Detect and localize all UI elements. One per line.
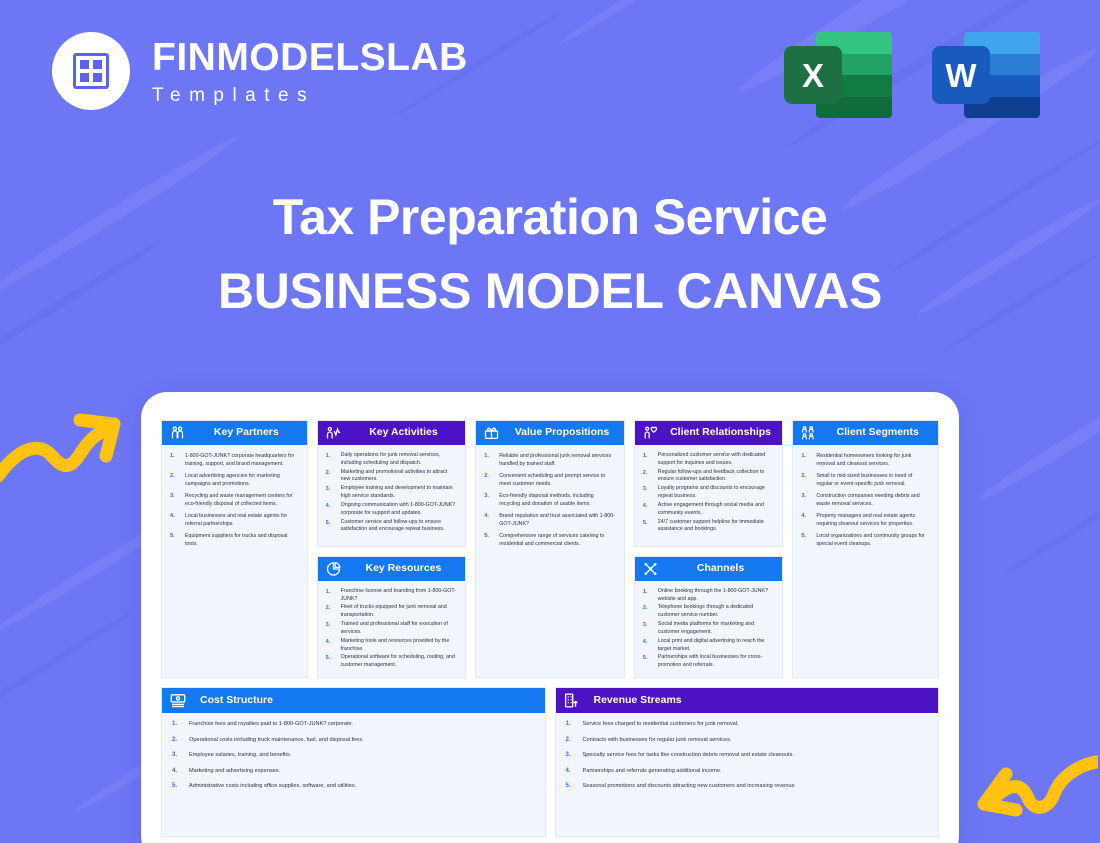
money-bill-icon [169,692,187,709]
gift-icon [483,425,500,441]
panel-content: 1-800-GOT-JUNK? corporate headquarters f… [162,445,307,677]
list-item: Daily operations for junk removal servic… [324,452,458,468]
people-group-icon [800,425,817,441]
list-item: Trained and professional staff for execu… [324,621,458,637]
brand-logo: FINMODELSLAB Templates [52,32,468,110]
list-item: Regular follow-ups and feedback collecti… [641,469,775,485]
office-format-icons: X W [784,32,1040,118]
list-item: Fleet of trucks equipped for junk remova… [324,604,458,620]
list-item: Contracts with businesses for regular ju… [562,736,931,745]
list-item: Property managers and real estate agents… [799,512,930,528]
list-item: Active engagement through social media a… [641,502,775,518]
panel-content: Daily operations for junk removal servic… [318,445,466,546]
panel-title: Channels [666,563,776,575]
panel-title: Cost Structure [194,695,538,707]
list-item: Comprehensive range of services catering… [482,532,616,548]
headline-canvas-label: BUSINESS MODEL CANVAS [0,261,1100,321]
person-heart-icon [642,425,659,441]
grid-squares-icon [73,53,109,89]
panel-key-activities[interactable]: Key Activities Daily operations for junk… [317,420,467,547]
panel-content: Service fees charged to residential cust… [556,713,939,836]
list-item: Brand reputation and trust associated wi… [482,512,616,528]
list-item: Operational costs including truck mainte… [168,736,537,745]
business-model-canvas-board: Key Partners 1-800-GOT-JUNK? corporate h… [141,392,959,843]
word-icon: W [932,32,1040,118]
network-nodes-icon [642,561,659,577]
excel-badge-letter: X [784,46,842,104]
panel-key-partners[interactable]: Key Partners 1-800-GOT-JUNK? corporate h… [161,420,308,678]
list-item: Franchise license and branding from 1-80… [324,588,458,604]
list-item: 24/7 customer support helpline for immed… [641,519,775,535]
canvas-bottom-row: Cost Structure Franchise fees and royalt… [161,687,939,837]
panel-content: Online booking through the 1-800-GOT-JUN… [635,581,783,677]
list-item: Equipment suppliers for trucks and dispo… [168,532,299,548]
panel-revenue-streams[interactable]: Revenue Streams Service fees charged to … [555,687,940,837]
excel-icon: X [784,32,892,118]
list-item: Reliable and professional junk removal s… [482,452,616,468]
word-badge-letter: W [932,46,990,104]
list-item: Local businesses and real estate agents … [168,512,299,528]
panel-client-segments[interactable]: Client Segments Residential homeowners l… [792,420,939,678]
list-item: Partnerships with local businesses for c… [641,654,775,670]
list-item: Marketing tools and resources provided b… [324,638,458,654]
list-item: Small to mid-sized businesses in need of… [799,472,930,488]
logo-circle [52,32,130,110]
squiggly-arrow-up-right-icon [0,398,126,493]
panel-content: Franchise license and branding from 1-80… [318,581,466,677]
panel-title: Revenue Streams [588,695,932,707]
person-activity-icon [325,425,342,441]
list-item: Administrative costs including office su… [168,782,537,791]
list-item: Partnerships and referrals generating ad… [562,767,931,776]
list-item: Recycling and waste management centers f… [168,492,299,508]
list-item: Personalized customer service with dedic… [641,452,775,468]
panel-title: Value Propositions [507,427,617,439]
list-item: Employee training and development to mai… [324,485,458,501]
logo-title: FINMODELSLAB [152,38,468,77]
list-item: Employee salaries, training, and benefit… [168,751,537,760]
list-item: Loyalty programs and discounts to encour… [641,485,775,501]
list-item: Convenient scheduling and prompt service… [482,472,616,488]
list-item: 1-800-GOT-JUNK? corporate headquarters f… [168,452,299,468]
list-item: Construction companies needing debris an… [799,492,930,508]
panel-title: Key Resources [349,563,459,575]
list-item: Telephone bookings through a dedicated c… [641,604,775,620]
panel-cost-structure[interactable]: Cost Structure Franchise fees and royalt… [161,687,546,837]
list-item: Specialty service fees for tasks like co… [562,751,931,760]
panel-value-propositions[interactable]: Value Propositions Reliable and professi… [475,420,625,678]
list-item: Seasonal promotions and discounts attrac… [562,782,931,791]
panel-client-relationships[interactable]: Client Relationships Personalized custom… [634,420,784,547]
list-item: Online booking through the 1-800-GOT-JUN… [641,588,775,604]
panel-channels[interactable]: Channels Online booking through the 1-80… [634,556,784,678]
canvas-top-row: Key Partners 1-800-GOT-JUNK? corporate h… [161,420,939,678]
list-item: Service fees charged to residential cust… [562,720,931,729]
panel-title: Key Partners [193,427,300,439]
logo-subtitle: Templates [152,86,468,105]
list-item: Social media platforms for marketing and… [641,621,775,637]
list-item: Marketing and advertising expenses. [168,767,537,776]
page-title: Tax Preparation Service BUSINESS MODEL C… [0,188,1100,321]
list-item: Local advertising agencies for marketing… [168,472,299,488]
list-item: Ongoing communication with 1-800-GOT-JUN… [324,502,458,518]
panel-key-resources[interactable]: Key Resources Franchise license and bran… [317,556,467,678]
two-people-icon [169,425,186,441]
panel-title: Key Activities [349,427,459,439]
list-item: Marketing and promotional activities to … [324,469,458,485]
headline-service-name: Tax Preparation Service [0,188,1100,247]
list-item: Local organizations and community groups… [799,532,930,548]
list-item: Franchise fees and royalties paid to 1-8… [168,720,537,729]
list-item: Operational software for scheduling, rou… [324,654,458,670]
pie-chart-icon [325,561,342,577]
panel-title: Client Relationships [666,427,776,439]
panel-title: Client Segments [824,427,931,439]
panel-content: Personalized customer service with dedic… [635,445,783,546]
list-item: Customer service and follow-ups to ensur… [324,519,458,535]
squiggly-arrow-down-left-icon [968,740,1098,835]
panel-content: Franchise fees and royalties paid to 1-8… [162,713,545,836]
building-growth-icon [563,692,581,709]
list-item: Eco-friendly disposal methods, including… [482,492,616,508]
panel-content: Residential homeowners looking for junk … [793,445,938,677]
list-item: Residential homeowners looking for junk … [799,452,930,468]
list-item: Local print and digital advertising to r… [641,638,775,654]
panel-content: Reliable and professional junk removal s… [476,445,624,677]
